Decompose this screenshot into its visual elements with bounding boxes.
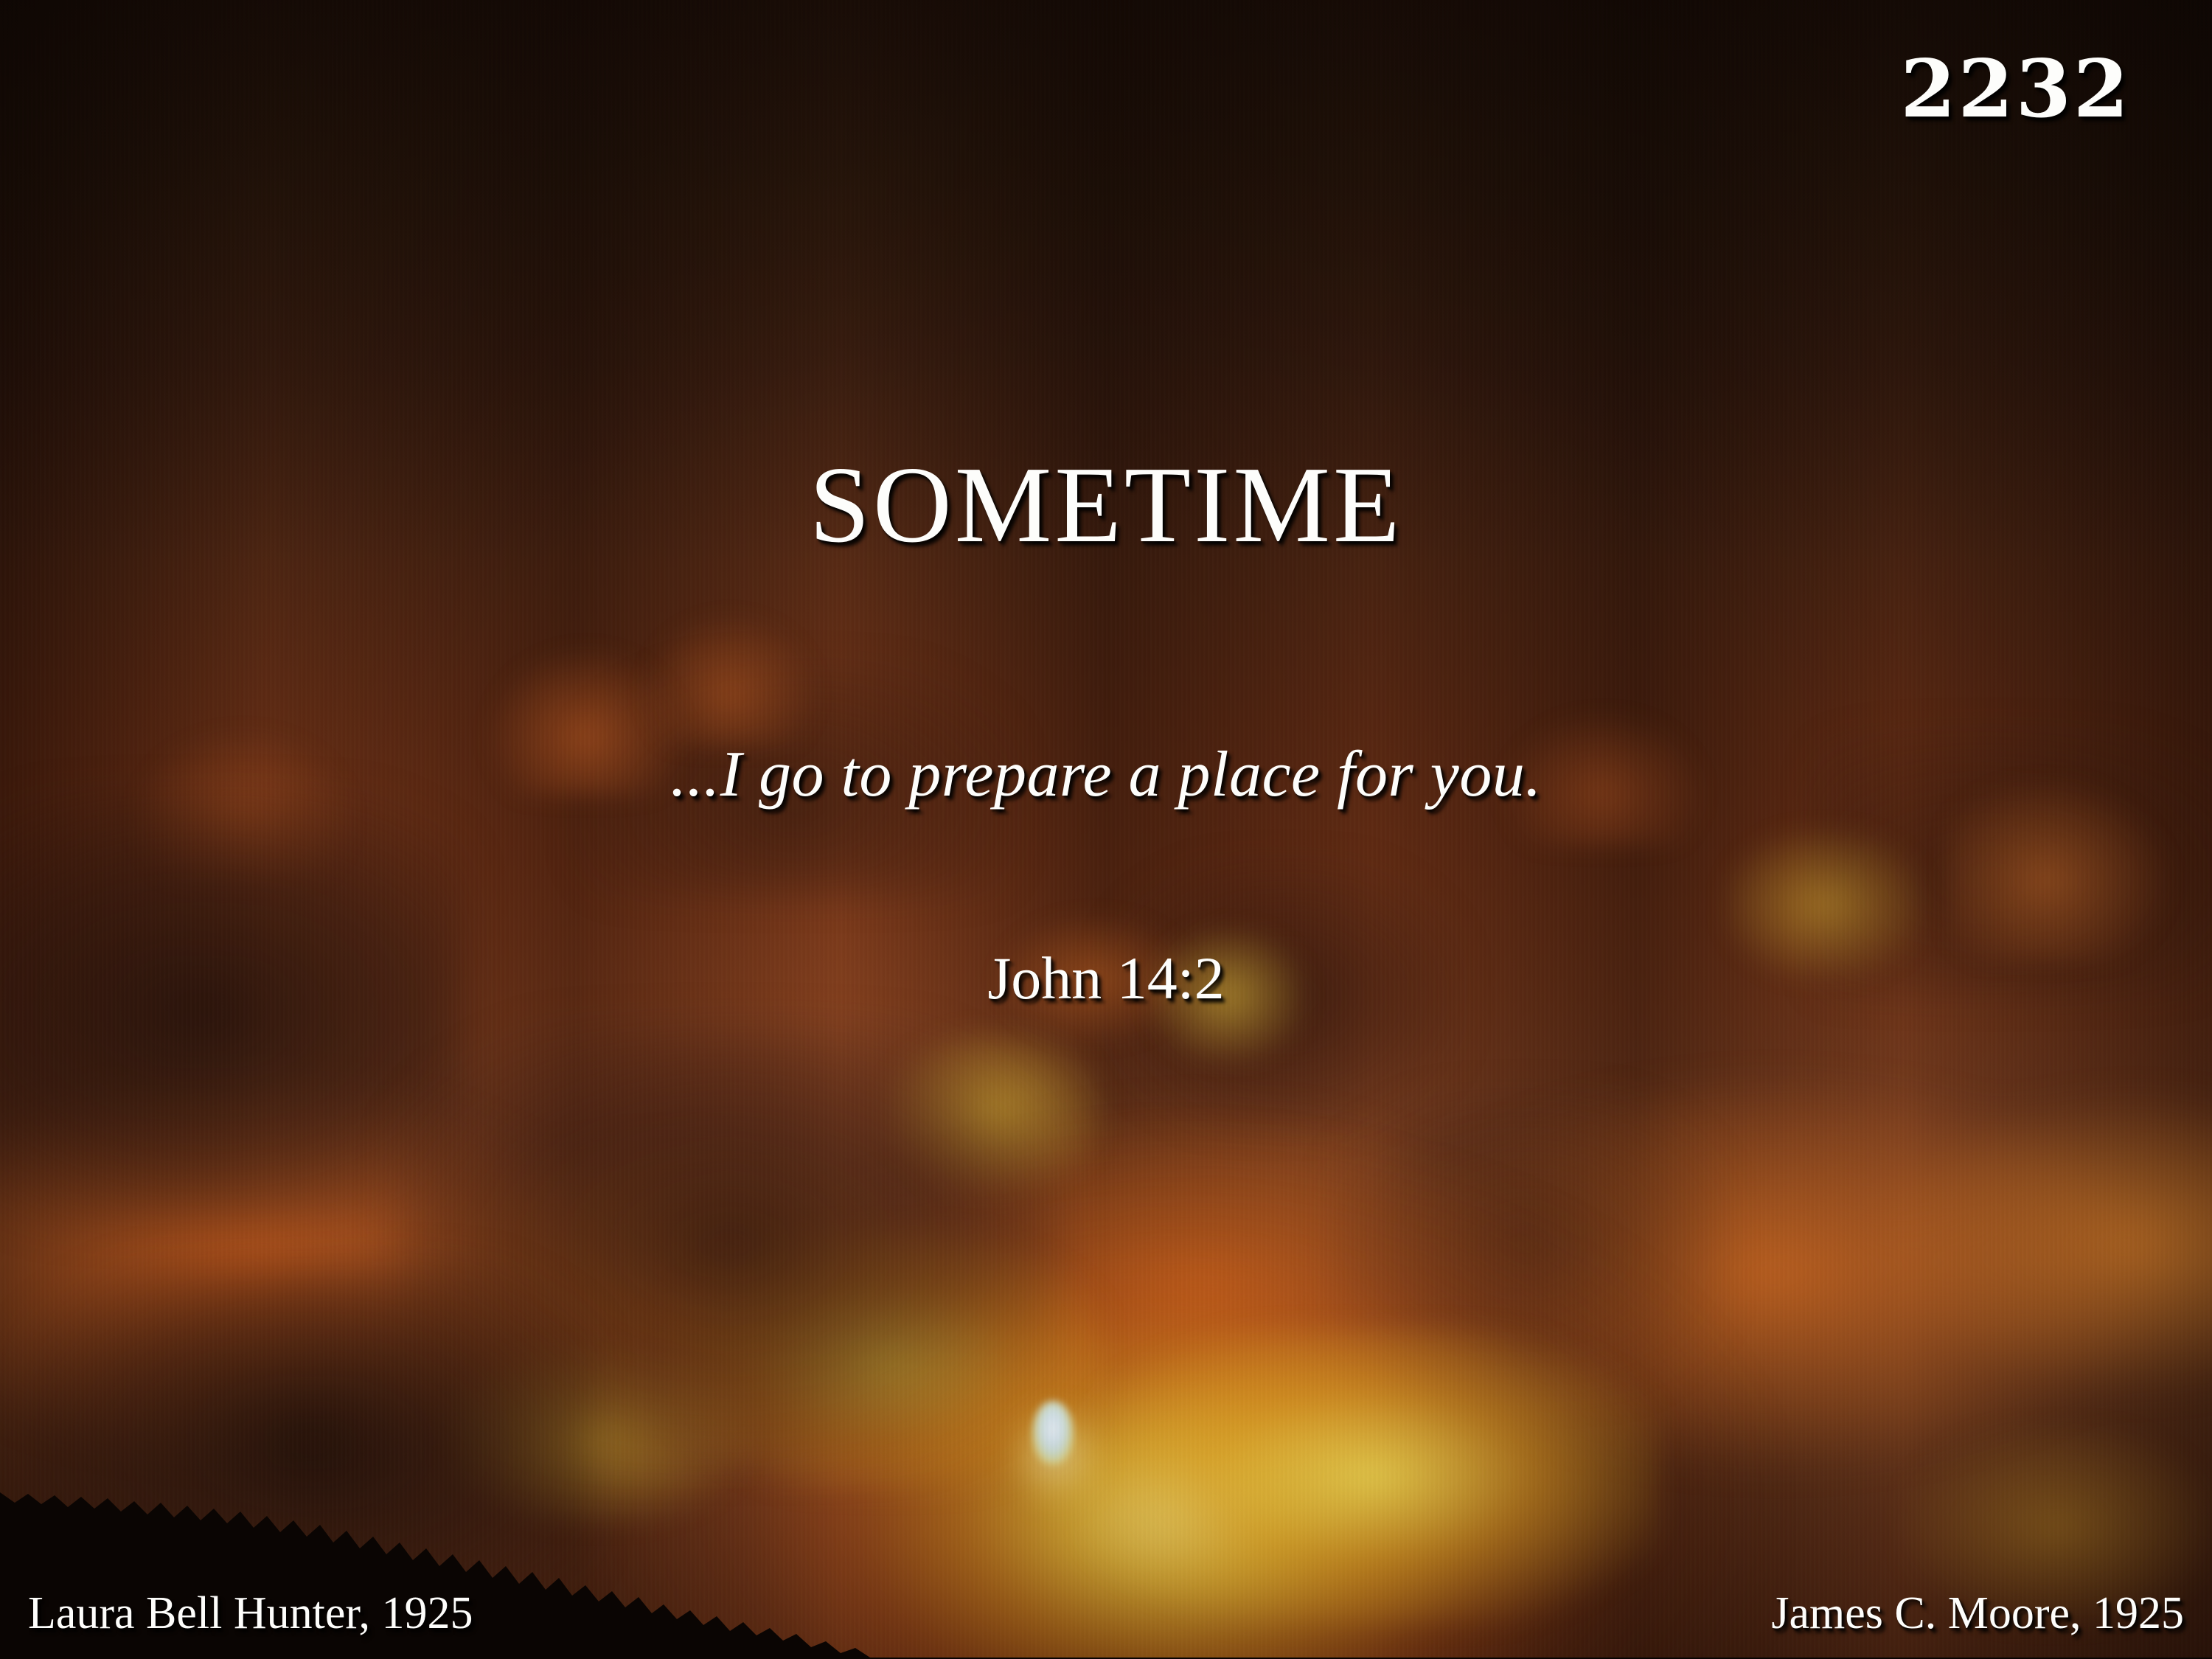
slide-number: 2232 [1900, 43, 2131, 136]
credit-composer: James C. Moore, 1925 [1771, 1587, 2184, 1640]
sun-icon [1032, 1401, 1074, 1464]
hymn-title: SOMETIME [0, 442, 2212, 568]
cloud-puff-b [641, 614, 818, 747]
gold-highlight-2 [1084, 1327, 1659, 1626]
dark-cloud-bottom-left [22, 1261, 597, 1626]
hymn-slide: 2232 SOMETIME ...I go to prepare a place… [0, 0, 2212, 1659]
scripture-reference: John 14:2 [0, 944, 2212, 1013]
credit-lyricist: Laura Bell Hunter, 1925 [28, 1587, 473, 1640]
hymn-subtitle: ...I go to prepare a place for you. [0, 737, 2212, 812]
